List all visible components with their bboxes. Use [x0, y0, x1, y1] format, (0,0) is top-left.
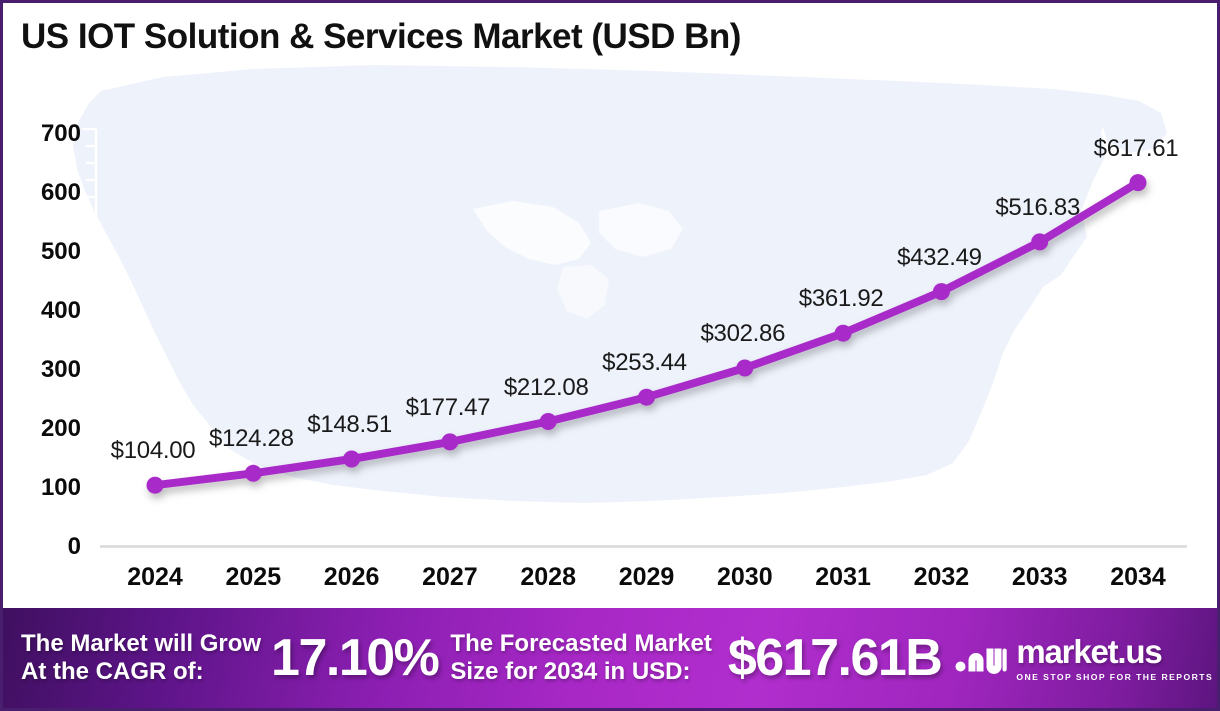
brand-name: market.us — [1016, 635, 1213, 668]
data-point-label: $302.86 — [700, 320, 785, 348]
y-tick-label: 600 — [9, 179, 81, 207]
data-point-label: $432.49 — [897, 244, 982, 272]
data-point-marker[interactable] — [540, 413, 557, 430]
summary-banner: The Market will Grow At the CAGR of: 17.… — [3, 608, 1217, 708]
y-tick-label: 500 — [9, 238, 81, 266]
data-point-marker[interactable] — [1031, 233, 1048, 250]
series-markers — [147, 174, 1147, 494]
data-point-label: $148.51 — [307, 411, 392, 439]
y-tick-label: 200 — [9, 415, 81, 443]
cagr-caption-line1: The Market will Grow — [21, 630, 261, 658]
data-point-label: $617.61 — [1094, 135, 1179, 163]
data-point-marker[interactable] — [638, 389, 655, 406]
cagr-caption: The Market will Grow At the CAGR of: — [21, 630, 261, 686]
brand-logo[interactable]: market.us ONE STOP SHOP FOR THE REPORTS — [955, 635, 1213, 682]
forecast-caption-line2: Size for 2034 in USD: — [450, 658, 711, 686]
data-point-label: $361.92 — [799, 285, 884, 313]
cagr-value: 17.10% — [271, 628, 438, 688]
data-point-marker[interactable] — [736, 360, 753, 377]
line-chart: 700 600 500 400 300 200 100 0 2024202520… — [3, 3, 1217, 608]
data-point-marker[interactable] — [343, 451, 360, 468]
y-tick-label: 0 — [9, 533, 81, 561]
data-point-label: $177.47 — [406, 394, 491, 422]
data-point-marker[interactable] — [835, 325, 852, 342]
data-point-marker[interactable] — [441, 433, 458, 450]
x-tick-label: 2034 — [1078, 563, 1198, 592]
data-point-marker[interactable] — [933, 283, 950, 300]
y-axis-tick-rail — [82, 129, 96, 369]
y-tick-label: 300 — [9, 356, 81, 384]
brand-tagline: ONE STOP SHOP FOR THE REPORTS — [1016, 672, 1213, 682]
data-point-label: $212.08 — [504, 374, 589, 402]
forecast-value: $617.61B — [728, 628, 942, 688]
data-point-label: $104.00 — [111, 437, 196, 465]
data-point-marker[interactable] — [1130, 174, 1147, 191]
data-point-label: $253.44 — [602, 349, 687, 377]
y-tick-label: 400 — [9, 297, 81, 325]
cagr-caption-line2: At the CAGR of: — [21, 658, 261, 686]
data-point-label: $516.83 — [995, 194, 1080, 222]
chart-page: US IOT Solution & Services Market (USD B… — [0, 0, 1220, 711]
series-line — [155, 183, 1138, 486]
forecast-caption-line1: The Forecasted Market — [450, 630, 711, 658]
brand-text: market.us ONE STOP SHOP FOR THE REPORTS — [1016, 635, 1213, 682]
y-tick-label: 700 — [9, 120, 81, 148]
data-point-marker[interactable] — [147, 477, 164, 494]
market-us-logo-icon — [955, 636, 1007, 681]
data-point-marker[interactable] — [245, 465, 262, 482]
data-point-label: $124.28 — [209, 425, 294, 453]
forecast-caption: The Forecasted Market Size for 2034 in U… — [450, 630, 711, 686]
page-title: US IOT Solution & Services Market (USD B… — [21, 17, 741, 57]
y-tick-label: 100 — [9, 474, 81, 502]
